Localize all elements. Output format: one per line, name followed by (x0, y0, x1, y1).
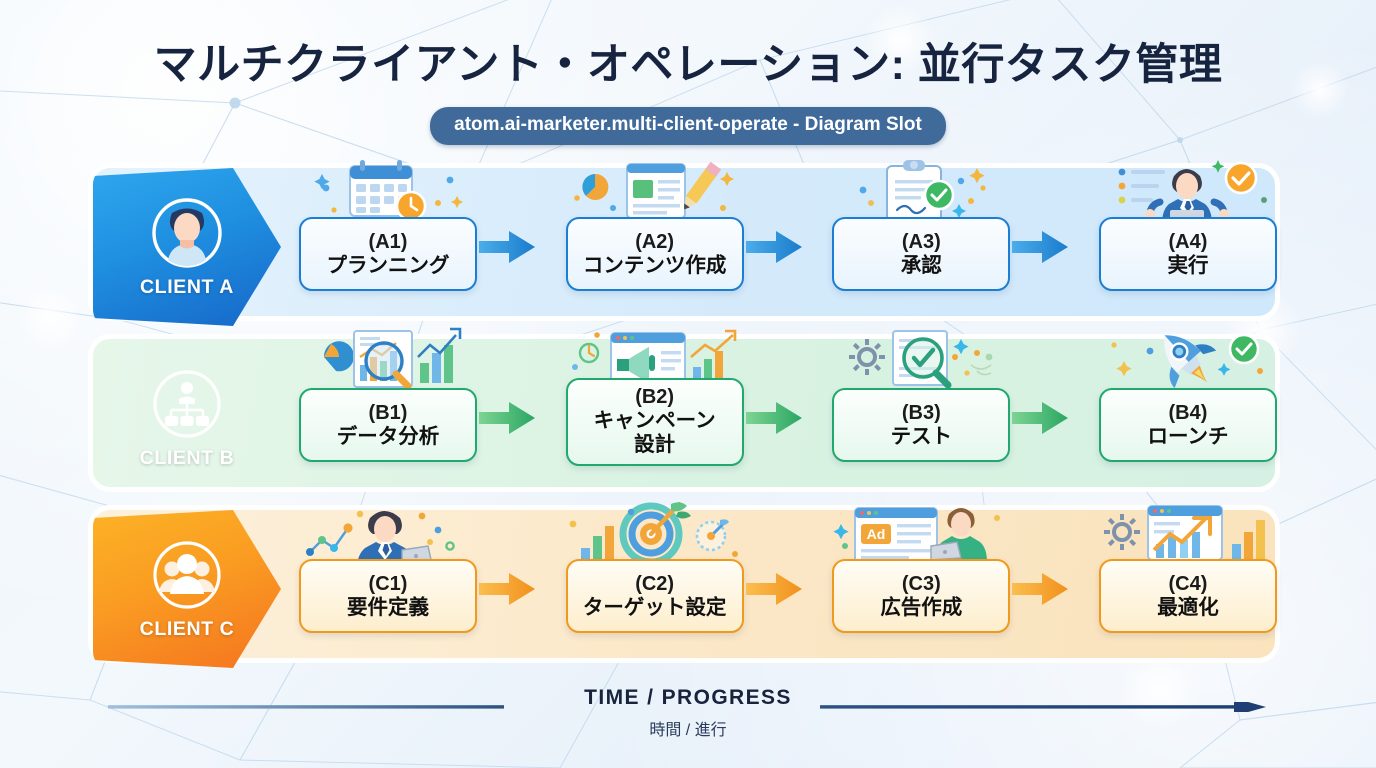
presenter-check-icon (1098, 158, 1278, 224)
client-badge-a[interactable]: CLIENT A (93, 168, 281, 326)
step-name: テスト (891, 425, 953, 449)
step-card-b2[interactable]: (B2) キャンペーン 設計 (566, 378, 744, 466)
step-card-b3[interactable]: (B3) テスト (832, 388, 1010, 462)
client-badge-c[interactable]: CLIENT C (93, 510, 281, 668)
step-code: (A4) (1169, 231, 1208, 254)
client-row-b: CLIENT B (88, 334, 1280, 492)
step-a1[interactable]: (A1) プランニング (299, 168, 477, 326)
page-title: マルチクライアント・オペレーション: 並行タスク管理 (0, 30, 1376, 92)
rocket-check-icon (1098, 327, 1278, 393)
chart-magnifier-icon (298, 327, 478, 393)
step-c3[interactable]: Ad (C3) 広告作成 (832, 510, 1010, 668)
steps-track-b: (B1) データ分析 (299, 339, 1277, 497)
client-badge-b[interactable]: CLIENT B (93, 339, 281, 497)
step-code: (A1) (369, 231, 408, 254)
steps-track-a: (A1) プランニング (299, 168, 1277, 326)
step-code: (B4) (1169, 402, 1208, 425)
step-code: (C1) (369, 573, 408, 596)
step-card-c2[interactable]: (C2) ターゲット設定 (566, 559, 744, 633)
client-badge-label-c: CLIENT C (140, 618, 235, 641)
gear-check-magnifier-icon (831, 327, 1011, 393)
step-name-line2: 設計 (634, 433, 675, 457)
flow-arrow-b2-b3 (746, 401, 802, 435)
step-name: データ分析 (337, 425, 440, 449)
timeline-label-wrap: TIME / PROGRESS (0, 686, 1376, 710)
org-chart-icon (150, 367, 224, 441)
client-row-a: CLIENT A (88, 163, 1280, 321)
client-row-c: CLIENT C (88, 505, 1280, 663)
step-code: (A2) (635, 231, 674, 254)
flow-arrow-a3-a4 (1012, 230, 1068, 264)
step-name: 要件定義 (347, 596, 429, 620)
step-card-c1[interactable]: (C1) 要件定義 (299, 559, 477, 633)
flow-arrow-c3-c4 (1012, 572, 1068, 606)
timeline-label: TIME / PROGRESS (568, 686, 808, 710)
step-name: 実行 (1167, 254, 1208, 278)
steps-track-c: (C1) 要件定義 (299, 510, 1277, 668)
step-name: 最適化 (1157, 596, 1219, 620)
step-name: 広告作成 (880, 596, 962, 620)
people-group-icon (150, 538, 224, 612)
flow-arrow-b1-b2 (479, 401, 535, 435)
document-pencil-icon (565, 158, 745, 224)
step-code: (B2) (635, 386, 674, 409)
step-c2[interactable]: (C2) ターゲット設定 (566, 510, 744, 668)
step-name: ターゲット設定 (583, 596, 727, 620)
step-code: (C2) (635, 573, 674, 596)
step-c1[interactable]: (C1) 要件定義 (299, 510, 477, 668)
step-code: (B3) (902, 402, 941, 425)
step-card-c3[interactable]: (C3) 広告作成 (832, 559, 1010, 633)
timeline-sublabel: 時間 / 進行 (0, 716, 1376, 740)
person-avatar-icon (150, 196, 224, 270)
flow-arrow-a1-a2 (479, 230, 535, 264)
step-card-a3[interactable]: (A3) 承認 (832, 217, 1010, 291)
step-name: 承認 (901, 254, 942, 278)
step-a2[interactable]: (A2) コンテンツ作成 (566, 168, 744, 326)
step-code: (A3) (902, 231, 941, 254)
step-name: コンテンツ作成 (583, 254, 727, 278)
client-badge-label-a: CLIENT A (140, 276, 234, 299)
step-a4[interactable]: (A4) 実行 (1099, 168, 1277, 326)
clipboard-check-icon (831, 158, 1011, 224)
step-b2[interactable]: (B2) キャンペーン 設計 (566, 339, 744, 497)
step-c4[interactable]: (C4) 最適化 (1099, 510, 1277, 668)
svg-text:Ad: Ad (867, 526, 886, 542)
step-card-a4[interactable]: (A4) 実行 (1099, 217, 1277, 291)
flow-arrow-c2-c3 (746, 572, 802, 606)
step-code: (C4) (1169, 573, 1208, 596)
diagram-canvas: マルチクライアント・オペレーション: 並行タスク管理 atom.ai-marke… (0, 0, 1376, 768)
subtitle-container: atom.ai-marketer.multi-client-operate - … (0, 107, 1376, 145)
step-card-b1[interactable]: (B1) データ分析 (299, 388, 477, 462)
client-badge-label-b: CLIENT B (140, 447, 235, 470)
step-card-a2[interactable]: (A2) コンテンツ作成 (566, 217, 744, 291)
step-name: ローンチ (1147, 425, 1228, 449)
diagram-slot-badge: atom.ai-marketer.multi-client-operate - … (430, 107, 946, 145)
step-b3[interactable]: (B3) テスト (832, 339, 1010, 497)
step-code: (B1) (369, 402, 408, 425)
step-card-b4[interactable]: (B4) ローンチ (1099, 388, 1277, 462)
step-name: プランニング (327, 254, 450, 278)
flow-arrow-b3-b4 (1012, 401, 1068, 435)
flow-arrow-a2-a3 (746, 230, 802, 264)
step-code: (C3) (902, 573, 941, 596)
step-a3[interactable]: (A3) 承認 (832, 168, 1010, 326)
flow-arrow-c1-c2 (479, 572, 535, 606)
step-card-c4[interactable]: (C4) 最適化 (1099, 559, 1277, 633)
step-name-line1: キャンペーン (594, 409, 716, 433)
step-b4[interactable]: (B4) ローンチ (1099, 339, 1277, 497)
step-b1[interactable]: (B1) データ分析 (299, 339, 477, 497)
calendar-clock-icon (298, 158, 478, 224)
step-card-a1[interactable]: (A1) プランニング (299, 217, 477, 291)
